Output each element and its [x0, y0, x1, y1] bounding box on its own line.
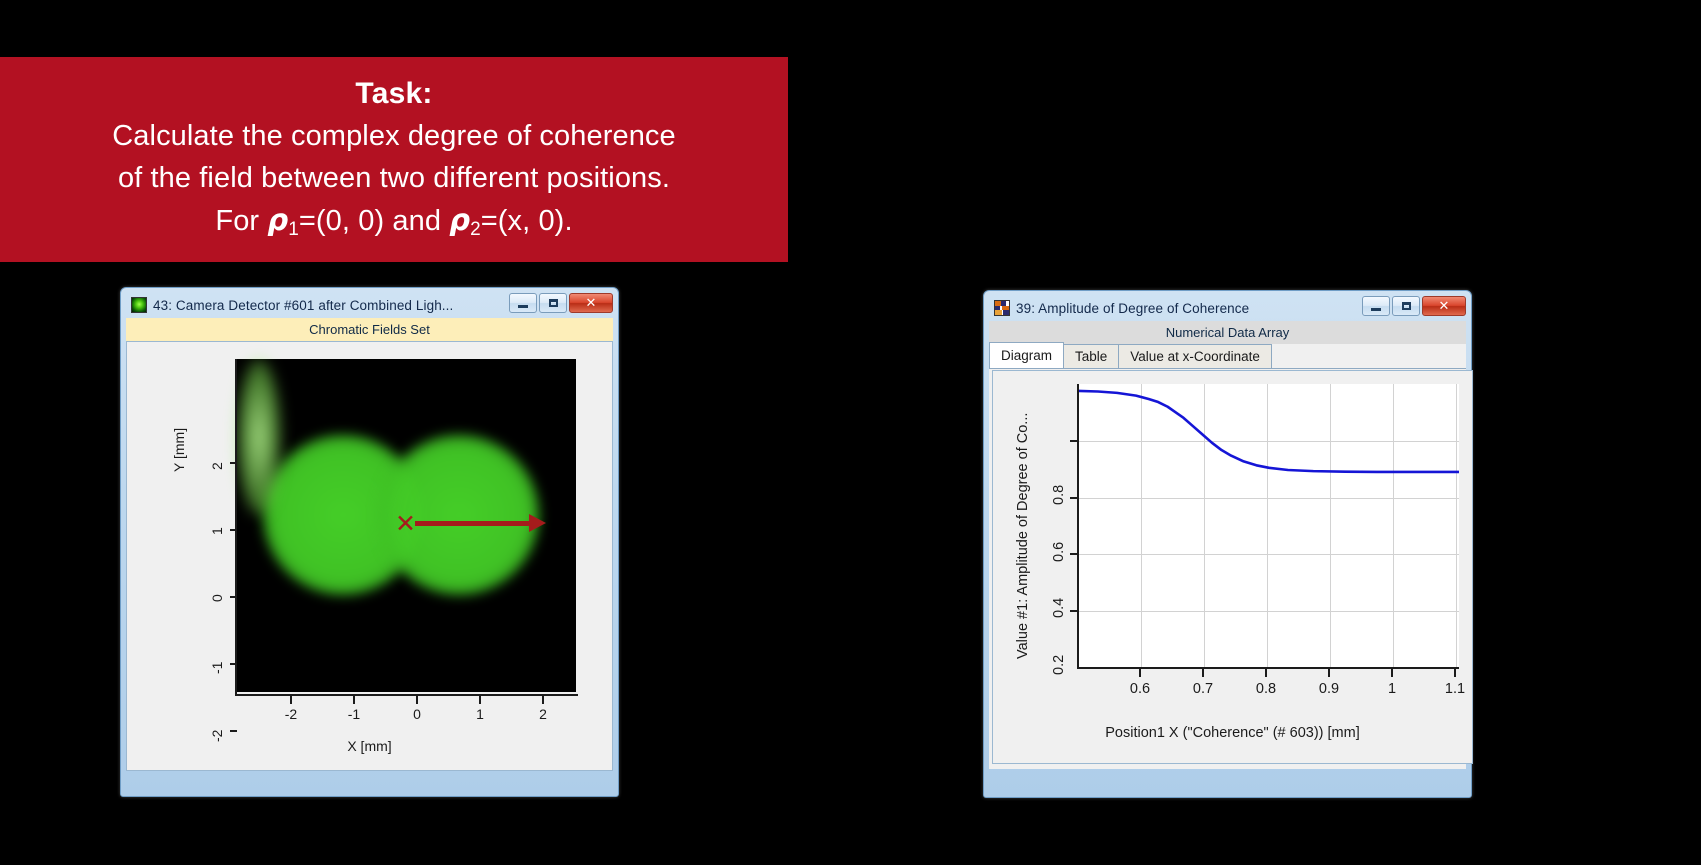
coherence-y-tickmark-0p2 — [1070, 610, 1077, 612]
tab-value-at-x-coordinate[interactable]: Value at x-Coordinate — [1118, 344, 1272, 368]
camera-x-tickmark-neg2 — [290, 696, 292, 704]
coherence-y-tickmark-0p4 — [1070, 553, 1077, 555]
coherence-x-tick-1p1: 1.1 — [1435, 681, 1475, 697]
minimize-button[interactable] — [1362, 296, 1390, 316]
coherence-y-axis-label: Value #1: Amplitude of Degree of Co... — [1015, 413, 1031, 659]
task-line-2: of the field between two different posit… — [10, 157, 778, 199]
coherence-y-tick-0p8: 0.8 — [1051, 485, 1067, 505]
camera-plot-area[interactable]: ✕ — [237, 359, 576, 692]
camera-detector-window[interactable]: 43: Camera Detector #601 after Combined … — [120, 287, 619, 797]
camera-y-axis-line — [235, 359, 237, 696]
coherence-x-tick-0p9: 0.9 — [1309, 681, 1349, 697]
coherence-plot-area — [1077, 384, 1459, 669]
coherence-x-tick-1p0: 1 — [1372, 681, 1412, 697]
camera-x-tickmark-0 — [416, 696, 418, 704]
coherence-window-title: 39: Amplitude of Degree of Coherence — [1016, 301, 1249, 316]
coherence-y-tick-0p6: 0.6 — [1051, 542, 1067, 562]
coherence-x-tickmark-1p1 — [1454, 669, 1456, 677]
coherence-window[interactable]: 39: Amplitude of Degree of Coherence ✕ N… — [983, 290, 1472, 798]
coherence-window-titlebar[interactable]: 39: Amplitude of Degree of Coherence ✕ — [989, 295, 1466, 321]
camera-x-tick-neg2: -2 — [276, 706, 306, 722]
camera-x-tick-1: 1 — [465, 706, 495, 722]
coherence-x-tick-0p7: 0.7 — [1183, 681, 1223, 697]
coherence-x-tickmark-0p8 — [1265, 669, 1267, 677]
coherence-window-controls: ✕ — [1362, 296, 1466, 316]
minimize-icon — [518, 305, 528, 308]
task-heading: Task: — [10, 73, 778, 115]
camera-x-tickmark-2 — [542, 696, 544, 704]
coherence-window-subtitle: Numerical Data Array — [989, 321, 1466, 344]
separation-arrow-head — [529, 514, 546, 532]
camera-y-tick-neg1: -1 — [209, 662, 225, 674]
camera-detector-icon — [131, 297, 147, 313]
beam-overlap-region — [237, 359, 281, 515]
camera-x-tick-neg1: -1 — [339, 706, 369, 722]
coherence-x-tickmark-0p9 — [1328, 669, 1330, 677]
camera-y-tick-2: 2 — [209, 462, 225, 470]
camera-window-title: 43: Camera Detector #601 after Combined … — [153, 298, 453, 313]
coherence-window-body: Diagram Table Value at x-Coordinate — [989, 344, 1466, 769]
camera-x-tick-2: 2 — [528, 706, 558, 722]
camera-x-tickmark-neg1 — [353, 696, 355, 704]
task-line-1: Calculate the complex degree of coherenc… — [10, 115, 778, 157]
rho-symbol-1: ρ — [267, 203, 288, 237]
close-icon: ✕ — [586, 297, 597, 310]
camera-y-axis-label: Y [mm] — [171, 428, 187, 472]
separation-arrow-line — [415, 521, 533, 526]
task-line-3-mid: =(0, 0) and — [299, 205, 449, 237]
camera-window-body: ✕ Y [mm] 2 1 0 -1 -2 -2 -1 0 1 2 X [mm] — [126, 341, 613, 771]
coherence-x-tickmark-0p6 — [1139, 669, 1141, 677]
minimize-button[interactable] — [509, 293, 537, 313]
coherence-y-tickmark-0p8 — [1070, 440, 1077, 442]
camera-y-tick-1: 1 — [209, 527, 225, 535]
task-line-3: For ρ1=(0, 0) and ρ2=(x, 0). — [10, 199, 778, 246]
coherence-curve — [1079, 384, 1459, 667]
coherence-y-tickmark-0p6 — [1070, 497, 1077, 499]
tab-table[interactable]: Table — [1063, 344, 1119, 368]
camera-window-titlebar[interactable]: 43: Camera Detector #601 after Combined … — [126, 292, 613, 318]
close-button[interactable]: ✕ — [569, 293, 613, 313]
maximize-icon — [549, 299, 558, 307]
camera-x-axis-label: X [mm] — [127, 738, 612, 754]
coherence-x-tickmark-1p0 — [1391, 669, 1393, 677]
close-button[interactable]: ✕ — [1422, 296, 1466, 316]
tab-diagram[interactable]: Diagram — [989, 342, 1064, 368]
rho-symbol-2: ρ — [449, 203, 470, 237]
camera-x-tick-0: 0 — [402, 706, 432, 722]
close-icon: ✕ — [1439, 300, 1450, 313]
coherence-y-tick-0p2: 0.2 — [1051, 655, 1067, 675]
numerical-data-array-icon — [994, 300, 1010, 316]
maximize-button[interactable] — [539, 293, 567, 313]
coherence-tabstrip: Diagram Table Value at x-Coordinate — [989, 344, 1466, 369]
task-line-3-suffix: =(x, 0). — [481, 205, 573, 237]
camera-x-axis-line — [235, 694, 578, 696]
position-marker-x: ✕ — [395, 511, 416, 536]
coherence-diagram-canvas[interactable]: 0.2 0.4 0.6 0.8 Value #1: Amplitude of D… — [992, 370, 1473, 764]
coherence-x-tick-0p8: 0.8 — [1246, 681, 1286, 697]
camera-window-controls: ✕ — [509, 293, 613, 313]
task-banner: Task: Calculate the complex degree of co… — [0, 57, 788, 262]
maximize-icon — [1402, 302, 1411, 310]
camera-y-tick-0: 0 — [209, 594, 225, 602]
coherence-y-tick-0p4: 0.4 — [1051, 598, 1067, 618]
rho-subscript-1: 1 — [288, 219, 299, 240]
maximize-button[interactable] — [1392, 296, 1420, 316]
rho-subscript-2: 2 — [470, 219, 481, 240]
coherence-x-tickmark-0p7 — [1202, 669, 1204, 677]
minimize-icon — [1371, 308, 1381, 311]
coherence-x-axis-label: Position1 X ("Coherence" (# 603)) [mm] — [993, 725, 1472, 741]
camera-x-tickmark-1 — [479, 696, 481, 704]
task-line-3-prefix: For — [215, 205, 267, 237]
coherence-x-tick-0p6: 0.6 — [1120, 681, 1160, 697]
camera-y-tickmark-neg2 — [230, 730, 237, 732]
camera-window-subtitle: Chromatic Fields Set — [126, 318, 613, 341]
